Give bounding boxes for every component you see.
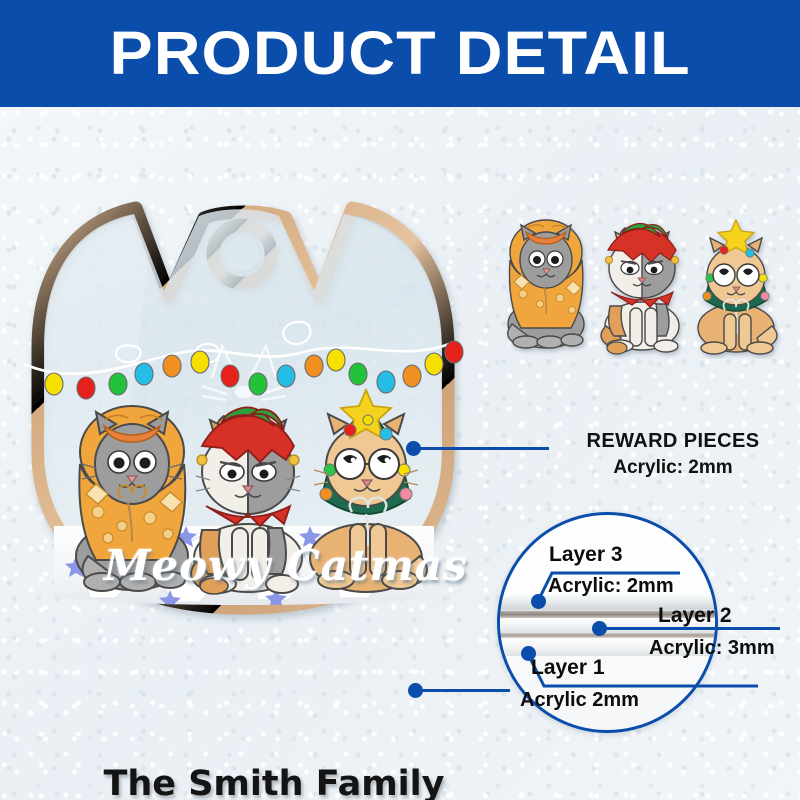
magnifier-connector-line [415,689,510,692]
main-ornament: Meowy Catmas The Smith Family [14,196,474,636]
reward-pieces-title: REWARD PIECES [548,430,798,453]
ornament-family-name: The Smith Family [89,764,459,800]
reward-pieces-subtitle: Acrylic: 2mm [548,457,798,479]
reward-piece-gray-gingerbread-cat [508,220,584,348]
reward-pieces-group [498,214,788,359]
ornament-greeting-text: Meowy Catmas [104,541,434,596]
reward-leader-line [413,447,549,450]
layer-3-label: Layer 3 [549,543,623,567]
header-banner: PRODUCT DETAIL [0,0,800,107]
layer-1-spec: Acrylic 2mm [520,689,639,712]
layer-2-label: Layer 2 [658,604,732,628]
layer-3-spec: Acrylic: 2mm [548,575,674,598]
reward-pieces-callout: REWARD PIECES Acrylic: 2mm [548,430,798,479]
layer-1-label: Layer 1 [531,656,605,680]
page-title: PRODUCT DETAIL [109,23,690,84]
reward-piece-calico-elf-cat [601,224,679,354]
reward-piece-tabby-tree-cat [698,220,777,354]
product-detail-page: PRODUCT DETAIL [0,0,800,800]
